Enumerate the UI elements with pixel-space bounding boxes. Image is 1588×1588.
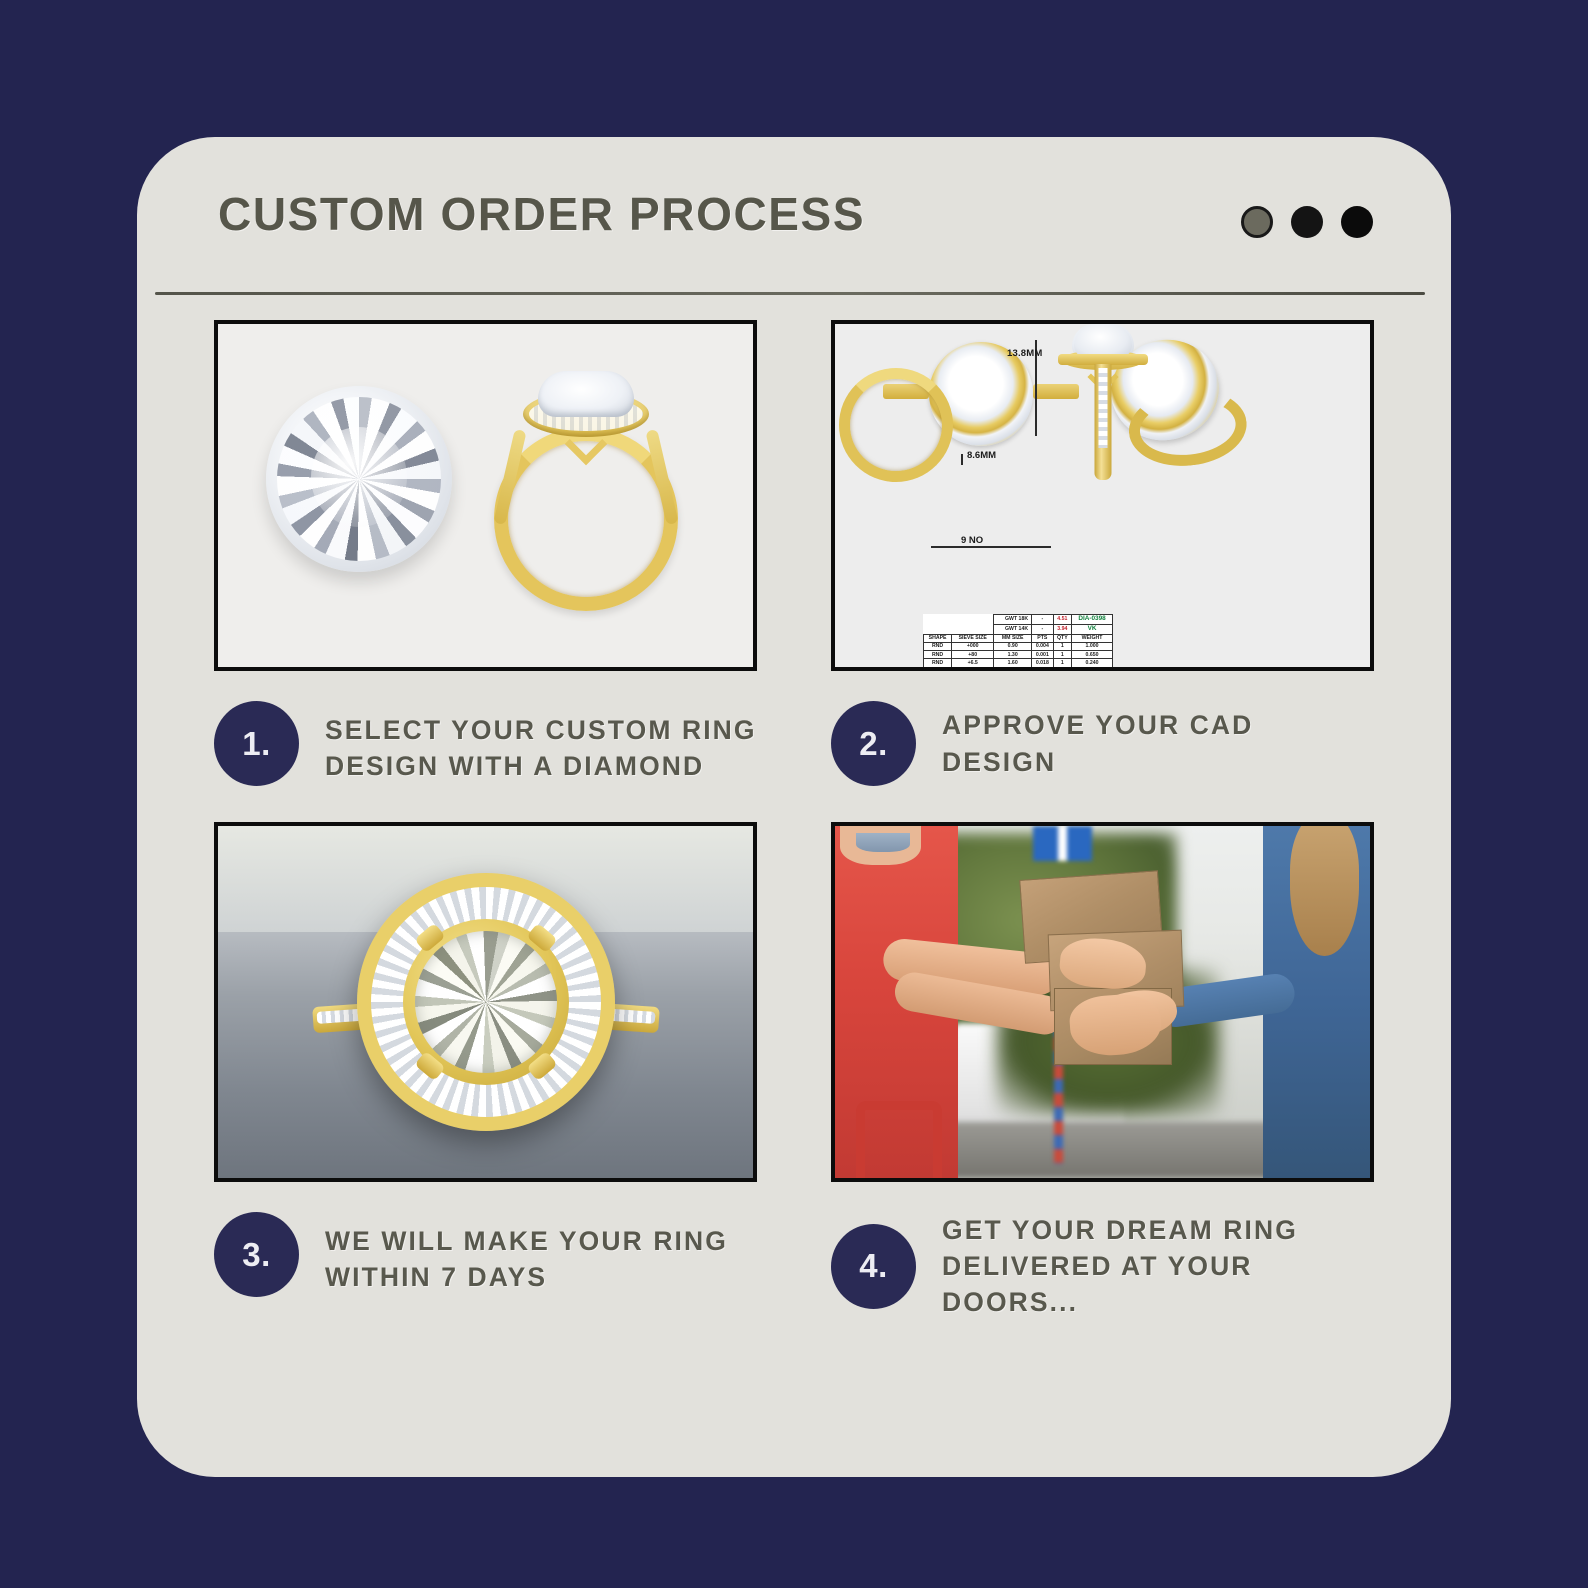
col-weight: WEIGHT (1072, 634, 1113, 642)
custom-order-process-card: CUSTOM ORDER PROCESS 1. (137, 137, 1451, 1477)
cell-pts: 0.001 (1032, 651, 1054, 659)
cell-qty: 1 (1053, 651, 1071, 659)
gwt-18k-label: GWT 18K (994, 615, 1032, 625)
page-title: CUSTOM ORDER PROCESS (218, 187, 865, 241)
cell-shape: RND (924, 659, 952, 667)
gwt-14k-dash: - (1032, 624, 1054, 634)
header-divider (155, 292, 1425, 295)
step-3-caption: 3. WE WILL MAKE YOUR RING WITHIN 7 DAYS (214, 1212, 757, 1297)
courier-handing-parcel-photo (831, 822, 1374, 1182)
gwt-18k-value: 4.51 (1053, 615, 1071, 625)
cell-weight: 0.650 (1072, 651, 1113, 659)
cad-technical-drawing-sheet: 13.8MM 8.6MM 9 NO GWT 18K - 4.51 DIA-039… (831, 320, 1374, 671)
finished-ring-graphic (357, 873, 615, 1131)
dimension-label-center-stone: 8.6MM (967, 450, 996, 461)
dimension-line-ring-size (931, 546, 1051, 548)
cell-mm: 1.60 (994, 659, 1032, 667)
cad-front-view-ring (835, 324, 957, 484)
table-row: RND +000 0.90 0.004 1 1.000 (924, 642, 1113, 650)
cell-shape: RND (924, 642, 952, 650)
cell-qty: 1 (1053, 659, 1071, 667)
finished-gold-halo-ring-photo (214, 822, 757, 1182)
col-shape: SHAPE (924, 634, 952, 642)
cell-sieve: +80 (952, 651, 994, 659)
cell-sieve: +000 (952, 642, 994, 650)
cell-sieve: +6.5 (952, 659, 994, 667)
cad-side-center-stone (1074, 324, 1132, 358)
col-qty: QTY (1053, 634, 1071, 642)
dimension-label-halo-diameter: 13.8MM (1007, 348, 1043, 359)
table-header-row: SHAPE SIEVE SIZE MM SIZE PTS QTY WEIGHT (924, 634, 1113, 642)
process-step-1: 1. SELECT YOUR CUSTOM RING DESIGN WITH A… (214, 320, 757, 786)
process-step-4: 4. GET YOUR DREAM RING DELIVERED AT YOUR… (831, 822, 1374, 1320)
cell-pts: 0.018 (1032, 659, 1054, 667)
photo-background-road-sign (1033, 826, 1092, 861)
step-2-caption: 2. APPROVE YOUR CAD DESIGN (831, 701, 1374, 786)
courier-face-mask (856, 833, 910, 852)
cell-mm: 1.30 (994, 651, 1032, 659)
cad-spec-table: GWT 18K - 4.51 DIA-0398 GWT 14K - 3.94 V… (923, 614, 1113, 668)
col-sieve-size: SIEVE SIZE (952, 634, 994, 642)
step-1-label: SELECT YOUR CUSTOM RING DESIGN WITH A DI… (325, 701, 757, 784)
minimize-dot[interactable] (1241, 206, 1273, 238)
window-controls (1241, 206, 1373, 238)
gwt-14k-value: 3.94 (1053, 624, 1071, 634)
dimension-label-ring-size: 9 NO (961, 535, 983, 546)
ring-center-diamond (415, 931, 557, 1073)
step-2-label: APPROVE YOUR CAD DESIGN (942, 707, 1374, 779)
ring-center-stone (538, 371, 634, 417)
step-1-caption: 1. SELECT YOUR CUSTOM RING DESIGN WITH A… (214, 701, 757, 786)
table-row: RND +6.5 1.60 0.018 1 0.240 (924, 659, 1113, 667)
step-3-badge: 3. (214, 1212, 299, 1297)
cell-weight: 1.000 (1072, 642, 1113, 650)
step-4-label: GET YOUR DREAM RING DELIVERED AT YOUR DO… (942, 1212, 1374, 1320)
loose-diamond-and-gold-halo-ring-photo (214, 320, 757, 671)
courier-hand-truck (856, 1101, 942, 1178)
cad-side-view-ring (835, 484, 935, 644)
cell-pts: 0.004 (1032, 642, 1054, 650)
step-3-label: WE WILL MAKE YOUR RING WITHIN 7 DAYS (325, 1212, 757, 1295)
maximize-dot[interactable] (1291, 206, 1323, 238)
col-pts: PTS (1032, 634, 1054, 642)
step-4-caption: 4. GET YOUR DREAM RING DELIVERED AT YOUR… (831, 1212, 1374, 1320)
table-row: GWT 14K - 3.94 VK (924, 624, 1113, 634)
cad-vendor-code: VK (1072, 624, 1113, 634)
gwt-14k-label: GWT 14K (994, 624, 1032, 634)
process-steps-grid: 1. SELECT YOUR CUSTOM RING DESIGN WITH A… (137, 320, 1451, 1320)
cell-shape: RND (924, 651, 952, 659)
close-dot[interactable] (1341, 206, 1373, 238)
round-brilliant-diamond-icon (266, 386, 452, 572)
process-step-2: 13.8MM 8.6MM 9 NO GWT 18K - 4.51 DIA-039… (831, 320, 1374, 786)
step-1-badge: 1. (214, 701, 299, 786)
dimension-tick-center-stone (961, 454, 963, 465)
col-mm-size: MM SIZE (994, 634, 1032, 642)
table-row: RND +80 1.30 0.001 1 0.650 (924, 651, 1113, 659)
cell-weight: 0.240 (1072, 659, 1113, 667)
step-4-badge: 4. (831, 1224, 916, 1309)
cad-side-pave-row (1098, 368, 1107, 448)
table-row: GWT 18K - 4.51 DIA-0398 (924, 615, 1113, 625)
card-header: CUSTOM ORDER PROCESS (137, 137, 1451, 297)
cad-design-code: DIA-0398 (1072, 615, 1113, 625)
step-2-badge: 2. (831, 701, 916, 786)
cad-front-band (839, 368, 953, 482)
cell-qty: 1 (1053, 642, 1071, 650)
process-step-3: 3. WE WILL MAKE YOUR RING WITHIN 7 DAYS (214, 822, 757, 1320)
gwt-18k-dash: - (1032, 615, 1054, 625)
cell-mm: 0.90 (994, 642, 1032, 650)
gold-halo-ring-profile-icon (478, 369, 694, 619)
